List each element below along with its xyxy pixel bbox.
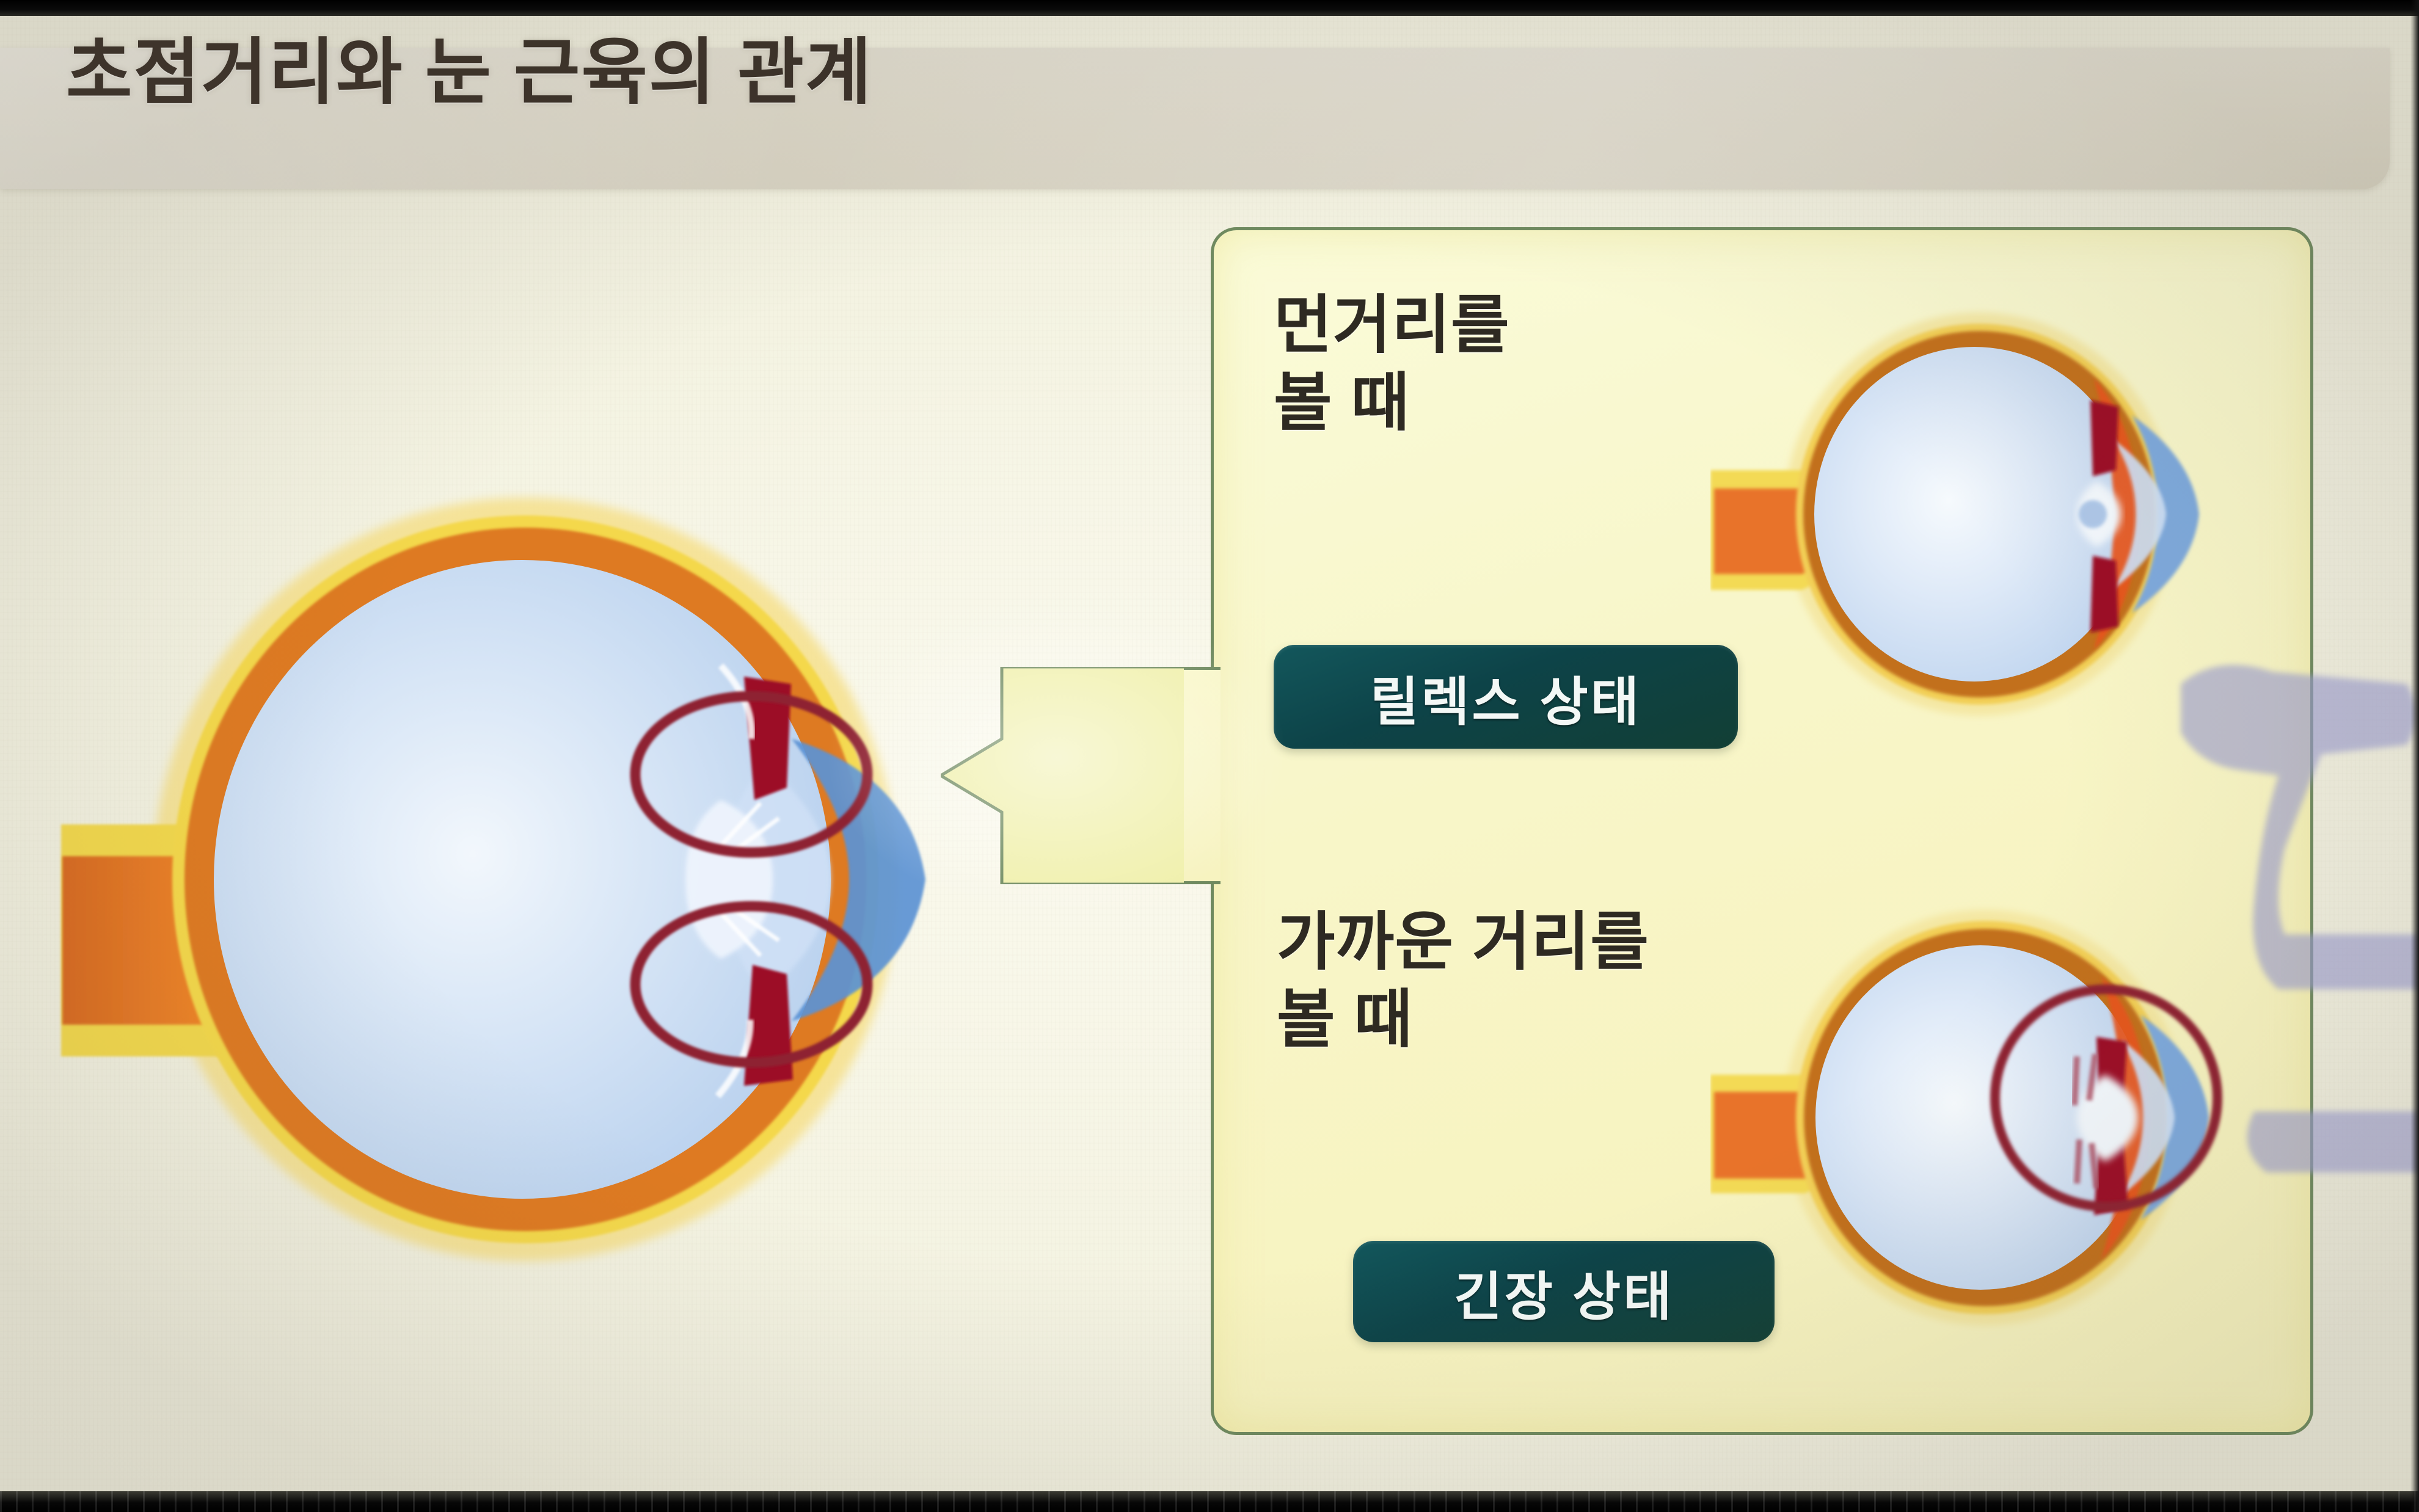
relaxed-pupil <box>2079 500 2107 528</box>
panel-arrow-notch <box>1184 667 1220 884</box>
eye-relaxed-diagram <box>1710 287 2242 751</box>
screen-bezel-right <box>2410 0 2419 1512</box>
relaxed-ciliary-upper <box>2090 400 2118 476</box>
screen-bezel-bottom <box>0 1491 2419 1512</box>
main-eyeball-diagram <box>37 397 1075 1386</box>
screen-bezel-top <box>0 0 2419 16</box>
label-far-distance: 먼거리를 볼 때 <box>1274 287 1510 442</box>
status-badge-relaxed: 릴렉스 상태 <box>1274 645 1738 749</box>
relaxed-ciliary-lower <box>2090 556 2118 633</box>
label-near-distance: 가까운 거리를 볼 때 <box>1277 904 1649 1059</box>
eye-tense-diagram <box>1710 873 2248 1356</box>
page-title: 초점거리와 눈 근육의 관계 <box>66 13 873 118</box>
status-badge-tense: 긴장 상태 <box>1353 1241 1775 1342</box>
callout-pointer-arrow <box>941 667 1222 884</box>
slide-photo: 초점거리와 눈 근육의 관계 <box>0 0 2419 1512</box>
